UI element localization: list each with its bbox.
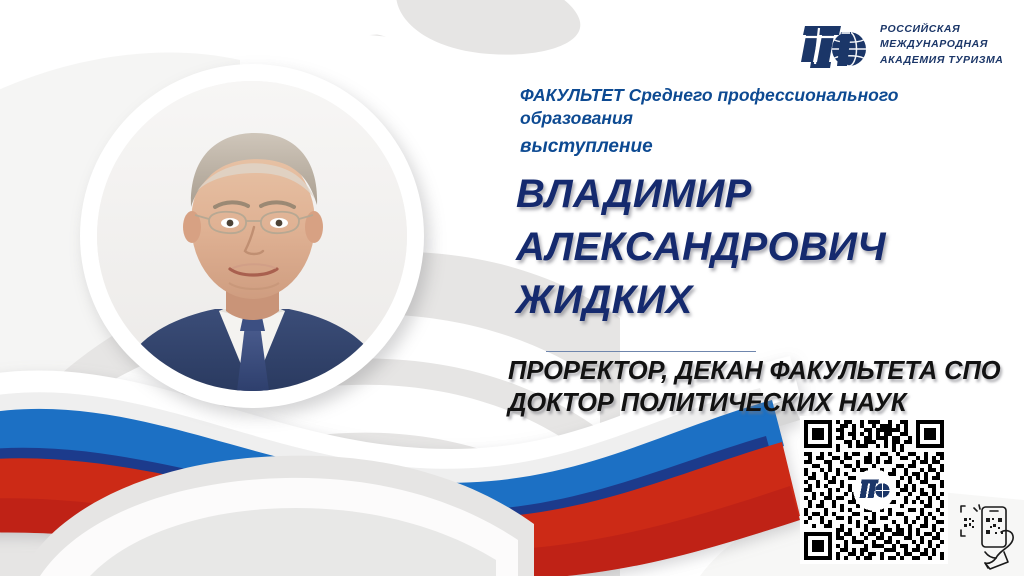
speaker-position: ПРОРЕКТОР, ДЕКАН ФАКУЛЬТЕТА СПО ДОКТОР П… [508, 355, 1024, 420]
arc-overlay-bottom-left [20, 456, 534, 576]
speech-label: выступление [520, 136, 653, 159]
qr-center-logo [853, 469, 895, 511]
qr-code[interactable] [800, 416, 948, 564]
faculty-heading: ФАКУЛЬТЕТ Среднего профессионального обр… [520, 84, 950, 131]
riat-logo: РОССИЙСКАЯ МЕЖДУНАРОДНАЯ АКАДЕМИЯ ТУРИЗМ… [797, 12, 1017, 78]
speaker-name-line-1: ВЛАДИМИР [516, 168, 1016, 221]
logo-line-3: АКАДЕМИЯ ТУРИЗМА [880, 54, 1003, 67]
riat-monogram-globe-icon [797, 16, 871, 74]
logo-wordmark: РОССИЙСКАЯ МЕЖДУНАРОДНАЯ АКАДЕМИЯ ТУРИЗМ… [880, 23, 1003, 67]
divider-rule [546, 351, 756, 352]
speaker-portrait [80, 64, 424, 408]
portrait-image [97, 81, 407, 391]
speaker-position-line-2: ДОКТОР ПОЛИТИЧЕСКИХ НАУК [508, 387, 1024, 419]
logo-line-2: МЕЖДУНАРОДНАЯ [880, 38, 1003, 51]
speaker-position-line-1: ПРОРЕКТОР, ДЕКАН ФАКУЛЬТЕТА СПО [508, 355, 1024, 387]
speaker-name-line-3: ЖИДКИХ [516, 274, 1016, 327]
speaker-name: ВЛАДИМИР АЛЕКСАНДРОВИЧ ЖИДКИХ [516, 168, 1016, 326]
speaker-name-line-2: АЛЕКСАНДРОВИЧ [516, 221, 1016, 274]
arc-blob-top-center [396, 0, 580, 55]
logo-line-1: РОССИЙСКАЯ [880, 23, 1003, 36]
hand-holding-phone-scanning-qr-icon [960, 496, 1018, 570]
presentation-slide: РОССИЙСКАЯ МЕЖДУНАРОДНАЯ АКАДЕМИЯ ТУРИЗМ… [0, 0, 1024, 576]
